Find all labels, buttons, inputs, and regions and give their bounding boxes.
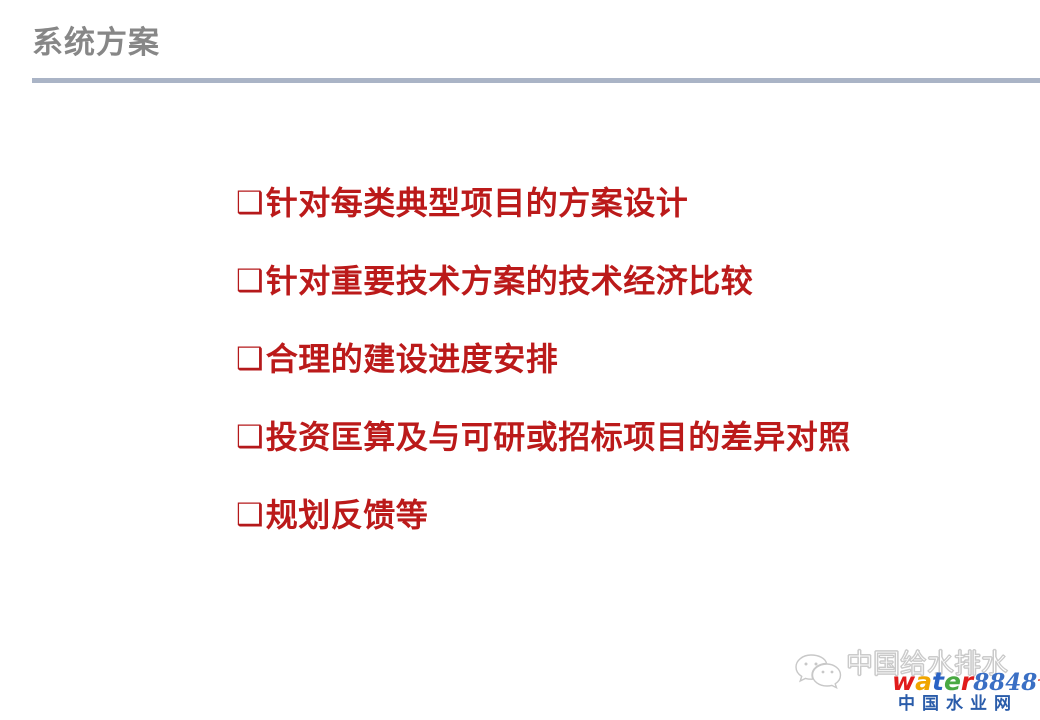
title-divider — [32, 78, 1040, 83]
hollow-square-bullet-icon: ❑ — [236, 421, 264, 452]
logo-letter-e: e — [944, 669, 961, 694]
logo-subtitle: 中国水业网 — [898, 695, 1018, 712]
logo-letter-w: w — [892, 669, 915, 694]
logo-wordmark: water8848.com — [892, 669, 1040, 694]
list-item: ❑ 针对每类典型项目的方案设计 — [236, 186, 996, 264]
hollow-square-bullet-icon: ❑ — [236, 187, 264, 218]
list-item-label: 针对重要技术方案的技术经济比较 — [266, 264, 754, 299]
logo-number: 8848 — [973, 671, 1037, 694]
list-item-label: 投资匡算及与可研或招标项目的差异对照 — [266, 420, 851, 455]
watermark: 中国给水排水 water8848.com 中国水业网 — [788, 645, 1040, 717]
logo-letter-a: a — [915, 669, 932, 694]
bullet-list: ❑ 针对每类典型项目的方案设计 ❑ 针对重要技术方案的技术经济比较 ❑ 合理的建… — [236, 186, 996, 576]
list-item: ❑ 合理的建设进度安排 — [236, 342, 996, 420]
presentation-slide: 系统方案 ❑ 针对每类典型项目的方案设计 ❑ 针对重要技术方案的技术经济比较 ❑… — [0, 0, 1040, 720]
wechat-icon — [792, 651, 846, 689]
hollow-square-bullet-icon: ❑ — [236, 265, 264, 296]
list-item-label: 规划反馈等 — [266, 498, 429, 533]
hollow-square-bullet-icon: ❑ — [236, 343, 264, 374]
logo-letter-r: r — [961, 669, 973, 694]
logo-letter-t: t — [932, 669, 944, 694]
list-item: ❑ 规划反馈等 — [236, 498, 996, 576]
list-item-label: 针对每类典型项目的方案设计 — [266, 186, 689, 221]
list-item: ❑ 针对重要技术方案的技术经济比较 — [236, 264, 996, 342]
hollow-square-bullet-icon: ❑ — [236, 499, 264, 530]
list-item-label: 合理的建设进度安排 — [266, 342, 559, 377]
list-item: ❑ 投资匡算及与可研或招标项目的差异对照 — [236, 420, 996, 498]
page-title: 系统方案 — [32, 25, 160, 61]
water8848-logo: water8848.com 中国水业网 — [892, 669, 1040, 717]
